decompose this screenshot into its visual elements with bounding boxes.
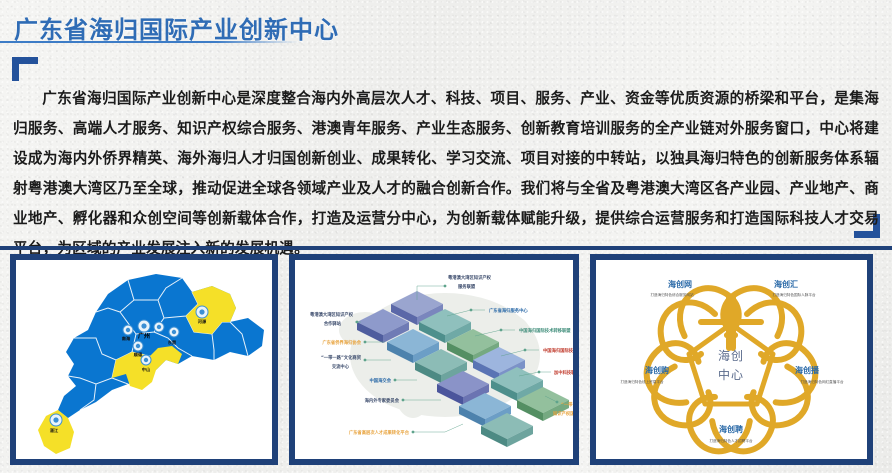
- logo-node-sub-0: 打造海归特色综合服务网站: [650, 292, 694, 297]
- platform-system-diagram: 粤港澳大湾区知识产权 服务联盟 粤港澳大湾区知识产权 合作驿站 广东省侨界海归协…: [295, 260, 573, 459]
- diagram-label-3a: “一带一路”文化商贸: [321, 354, 362, 361]
- diagram-label-2: 广东省侨界海归协会: [322, 339, 361, 346]
- map-label-zhanjiang: 湛江: [50, 427, 59, 434]
- panel-row: 河源 广州 南海 东莞 顺德 中山 湛江: [10, 254, 882, 465]
- diagram-label-1a: 粤港澳大湾区知识产权: [310, 311, 354, 318]
- map-marker: [169, 327, 179, 337]
- diagram-label-10: 加中科技联盟广州联络处: [553, 369, 573, 376]
- title-underline: [0, 41, 300, 43]
- logo-node-sub-3: 打造海归特色网红直播平台: [800, 379, 844, 384]
- diagram-label-5: 海内外专家委员会: [365, 397, 400, 404]
- map-label-heyuan: 河源: [197, 318, 207, 325]
- page-title-wrap: 广东省海归国际产业创新中心: [14, 10, 339, 45]
- diagram-label-0b: 服务联盟: [458, 283, 476, 290]
- section-divider: [0, 246, 892, 250]
- map-marker: [196, 306, 208, 318]
- intro-paragraph: 广东省海归国际产业创新中心是深度整合海内外高层次人才、科技、项目、服务、产业、资…: [13, 84, 879, 264]
- diagram-label-9: 中国海归国际技术转移中心: [543, 347, 573, 354]
- logo-node-sub-1: 打造海归特色国际人脉平台: [772, 292, 816, 297]
- map-marker: [50, 414, 62, 426]
- map-label-nanhai: 南海: [122, 335, 131, 342]
- corner-bracket-top-left-icon: [12, 57, 38, 81]
- logo-center-line1: 海创: [718, 348, 744, 363]
- panel-diagram[interactable]: 粤港澳大湾区知识产权 服务联盟 粤港澳大湾区知识产权 合作驿站 广东省侨界海归协…: [289, 254, 579, 465]
- diagram-label-4: 中国海交会: [370, 377, 392, 384]
- diagram-label-7: 广东省海归服务中心: [489, 307, 528, 314]
- diagram-label-1b: 合作驿站: [324, 320, 342, 327]
- map-label-guangzhou: 广州: [138, 332, 150, 340]
- logo-node-sub-2: 打造海归特色线上贸易平台: [620, 379, 664, 384]
- logo-node-title-2: 海创购: [645, 365, 669, 375]
- haichuang-knot-logo: 海创 中心 海创网 打造海归特色综合服务网站 海创汇 打造海归特色国际人脉平台 …: [596, 260, 867, 459]
- logo-node-sub-4: 打造海归特色人才招聘平台: [709, 438, 753, 443]
- logo-node-title-3: 海创播: [795, 365, 820, 375]
- map-marker: [154, 322, 164, 332]
- diagram-label-11b: 知识产权国际合作联盟: [553, 410, 573, 417]
- logo-node-title-0: 海创网: [668, 279, 692, 289]
- map-label-dongguan: 东莞: [168, 339, 177, 346]
- guangdong-map-graphic: 河源 广州 南海 东莞 顺德 中山 湛江: [16, 260, 272, 459]
- diagram-label-11a: “一带一路”: [561, 401, 573, 408]
- map-marker: [138, 320, 150, 332]
- map-marker: [123, 325, 133, 335]
- map-label-zhongshan: 中山: [142, 366, 150, 373]
- panel-map-inner: 河源 广州 南海 东莞 顺德 中山 湛江: [16, 260, 272, 459]
- map-marker: [133, 341, 143, 351]
- page-title: 广东省海归国际产业创新中心: [14, 10, 339, 45]
- map-label-shunde: 顺德: [134, 351, 143, 358]
- diagram-label-6: 广东省高层次人才成果转化平台: [349, 429, 410, 436]
- logo-node-title-4: 海创聘: [719, 424, 743, 434]
- diagram-label-0a: 粤港澳大湾区知识产权: [448, 274, 492, 281]
- panel-logo-inner: 海创 中心 海创网 打造海归特色综合服务网站 海创汇 打造海归特色国际人脉平台 …: [596, 260, 867, 459]
- diagram-label-3b: 交流中心: [332, 363, 350, 370]
- logo-node-title-1: 海创汇: [774, 279, 798, 289]
- logo-center-line2: 中心: [718, 367, 744, 382]
- map-marker: [141, 355, 151, 365]
- panel-diagram-inner: 粤港澳大湾区知识产权 服务联盟 粤港澳大湾区知识产权 合作驿站 广东省侨界海归协…: [295, 260, 573, 459]
- diagram-label-8: 中国海归国际技术转移联盟: [519, 327, 571, 334]
- map-regions: [38, 274, 264, 454]
- panel-logo[interactable]: 海创 中心 海创网 打造海归特色综合服务网站 海创汇 打造海归特色国际人脉平台 …: [590, 254, 873, 465]
- panel-map[interactable]: 河源 广州 南海 东莞 顺德 中山 湛江: [10, 254, 278, 465]
